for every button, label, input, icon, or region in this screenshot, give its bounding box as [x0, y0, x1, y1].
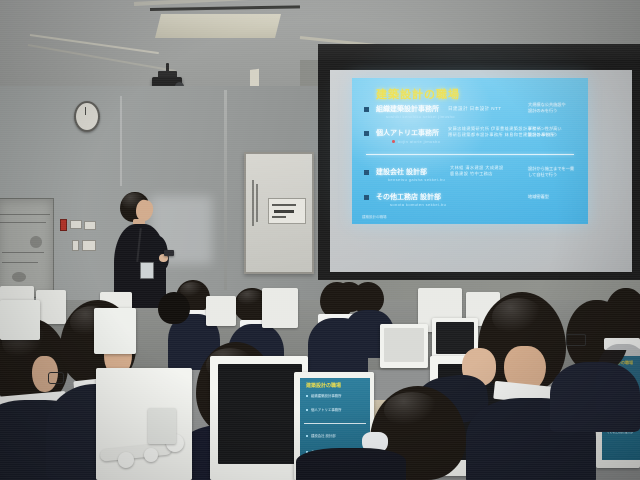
student-hair-highlight	[492, 298, 544, 336]
slide-item-romaji: sonota komuten sekkei-bu	[390, 202, 446, 207]
notice-text-line	[272, 204, 296, 206]
wall-clock	[74, 101, 100, 132]
slide-item-romaji: kojin atorie jimusho	[398, 139, 440, 144]
monitor-arm-joint	[118, 452, 134, 468]
slide-item-romaji: kensetsu gaisha sekkei-bu	[388, 177, 445, 182]
slide-bullet-marker	[364, 131, 369, 136]
slide-item-note: 大規模な公共施設や 設計のみを行う	[528, 102, 566, 114]
lcd-monitor-screen	[436, 322, 474, 354]
slide-divider	[366, 154, 574, 155]
presentation-remote[interactable]	[164, 250, 174, 256]
wall-outlet[interactable]	[82, 240, 96, 251]
monitor-slide-title: 建築設計の職場	[306, 382, 341, 389]
projected-slide: 建築設計の職場 組織建築設計事務所 日建設計 日本設計 NTT soshiki …	[352, 78, 588, 224]
lcd-monitor	[36, 290, 66, 324]
wall-outlet[interactable]	[72, 240, 79, 251]
wall-poster	[0, 198, 54, 298]
notice-text-line	[274, 210, 294, 213]
emergency-call-button[interactable]	[60, 219, 67, 231]
monitor-slide-divider	[304, 423, 366, 424]
monitor-slide-bullet	[306, 395, 308, 397]
monitor-arm-joint	[144, 448, 158, 462]
slide-bullet-marker	[364, 107, 369, 112]
slide-footer: 建築設計の職場	[362, 215, 387, 220]
slide-bullet-marker	[364, 170, 369, 175]
lcd-monitor-screen	[384, 328, 424, 362]
student-hair-highlight	[384, 392, 440, 428]
wall-column-edge	[224, 90, 227, 290]
slide-item-heading: その他工務店 設計部	[376, 192, 441, 202]
classroom-photo-scene: 建築設計の職場 組織建築設計事務所 日建設計 日本設計 NTT soshiki …	[0, 0, 640, 480]
poster-detail-line	[0, 222, 46, 223]
lcd-monitor	[0, 300, 40, 340]
monitor-slide-bullet	[306, 409, 308, 411]
presenter-id-badge	[140, 262, 154, 279]
lcd-monitor	[94, 308, 136, 354]
monitor-vesa-plate	[148, 408, 176, 444]
wall-switch-panel[interactable]	[84, 221, 96, 230]
lcd-monitor	[96, 368, 192, 480]
lcd-monitor-screen	[218, 364, 302, 464]
student-head	[158, 292, 190, 324]
eyeglasses	[48, 372, 64, 384]
student-hair-highlight	[238, 290, 264, 306]
slide-item-note: 地域密着型	[528, 194, 549, 200]
monitor-slide-row: 組織建築設計事務所	[311, 393, 342, 398]
poster-detail-blob	[12, 272, 26, 282]
slide-bullet-marker	[364, 195, 369, 200]
student-torso	[596, 344, 640, 414]
notice-text-line	[272, 216, 286, 218]
monitor-slide-bullet	[306, 435, 308, 437]
monitor-slide-row: 建設会社 設計部	[311, 433, 336, 438]
slide-item-note: デザイン性が高い 設計のみを行う	[528, 126, 562, 138]
poster-detail-line	[2, 252, 44, 253]
slide-highlight-dot	[392, 140, 395, 143]
slide-item-heading: 個人アトリエ事務所	[376, 128, 439, 138]
poster-detail-line	[2, 262, 38, 263]
slide-item-detail: 日建設計 日本設計 NTT	[448, 106, 501, 112]
student-head	[604, 288, 640, 344]
slide-item-note: 設計から施工までを一貫 して自社で行う	[528, 166, 574, 178]
eyeglasses	[566, 334, 586, 346]
monitor-slide-row: 個人アトリエ事務所	[311, 407, 342, 412]
slide-item-heading: 組織建築設計事務所	[376, 104, 439, 114]
student-head	[334, 282, 364, 312]
wall-column-edge	[120, 96, 122, 186]
ceiling-light-panel	[155, 14, 281, 38]
lcd-monitor	[206, 296, 236, 326]
poster-detail-line	[0, 214, 50, 215]
slide-title: 建築設計の職場	[376, 86, 460, 102]
whiteboard-writing	[252, 180, 254, 226]
slide-item-romaji: soshiki kenchiku sekkei jimusho	[386, 114, 455, 119]
slide-item-heading: 建設会社 設計部	[376, 167, 427, 177]
slide-item-detail: 大林組 清水建設 大成建設 鹿島建設 竹中工務店	[450, 165, 504, 178]
lcd-monitor	[262, 288, 298, 328]
student-torso	[296, 448, 406, 480]
whiteboard-writing	[256, 184, 258, 222]
wall-switch-panel[interactable]	[70, 220, 82, 229]
poster-detail-blob	[30, 236, 42, 248]
